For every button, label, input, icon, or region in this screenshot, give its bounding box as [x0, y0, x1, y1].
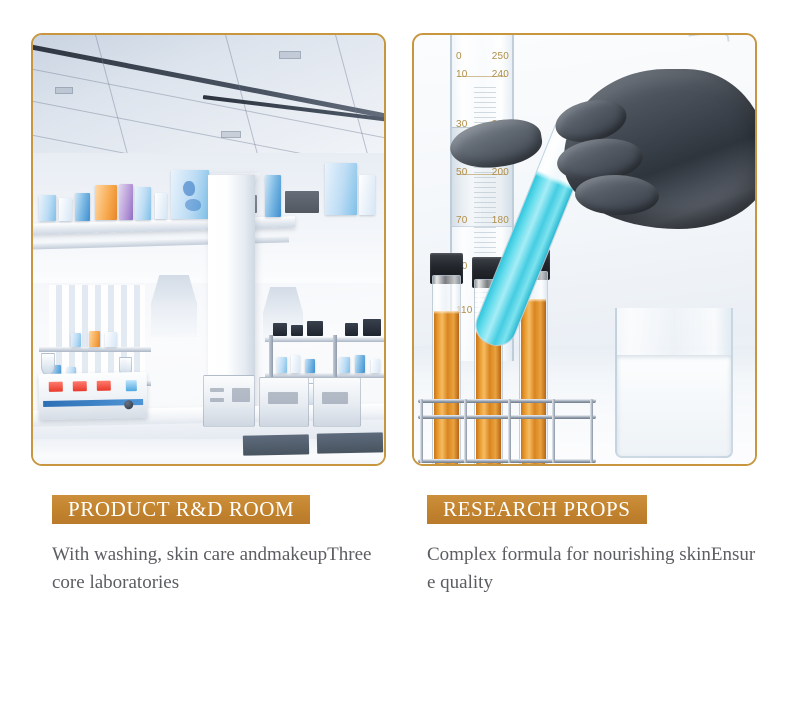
analyzer-unit-3 [313, 377, 361, 427]
cylinder-scale-right-0: 250 [492, 51, 509, 62]
glass-beaker [615, 308, 733, 458]
cylinder-scale-left-4: 70 [456, 215, 468, 226]
test-tube-fill-1 [434, 311, 459, 464]
shelf-product-1 [39, 195, 56, 221]
lab-room-scene [33, 35, 384, 464]
test-tube-fill-3 [521, 299, 546, 464]
mid-shelf-item-2 [291, 325, 303, 336]
mid-shelf-item-5 [363, 319, 381, 336]
ceiling-line-6 [333, 35, 384, 157]
shelf-product-6 [135, 187, 151, 220]
cylinder-row-1: 10 240 [452, 69, 512, 83]
shelf-product-8-graphic [183, 181, 195, 196]
banner-label: PRODUCT R&D ROOM [68, 499, 294, 520]
analyzer-display-2 [268, 392, 298, 404]
ceiling-vent-2 [279, 51, 301, 59]
flask-1 [41, 353, 55, 375]
cylinder-scale-right-4: 180 [492, 215, 509, 226]
cylinder-scale-right-3: 200 [492, 167, 509, 178]
description-product-rd-room: With washing, skin care andmakeupThree c… [52, 541, 382, 597]
rack-leg-1 [420, 399, 423, 463]
cylinder-row-0: 0 250 [452, 51, 512, 65]
cylinder-scale-right-1: 240 [492, 69, 509, 80]
photo-frame-research-props: 0 250 10 240 30 220 [412, 33, 757, 466]
banner-research-props: RESEARCH PROPS [427, 495, 647, 524]
cylinder-row-3: 50 200 [452, 167, 512, 181]
analyzer-slot-1 [210, 388, 224, 392]
left-shelf-bottle-1 [89, 331, 100, 347]
shelf-product-12 [359, 175, 375, 215]
instrument-red-button-1 [49, 382, 63, 392]
analyzer-slot-2 [210, 398, 224, 402]
rack-leg-2 [464, 399, 467, 463]
mid-shelf-bottle-5 [355, 355, 365, 373]
research-props-photo: 0 250 10 240 30 220 [414, 35, 755, 464]
shelf-item-10 [285, 191, 319, 213]
left-shelf-bottle-3 [105, 332, 117, 347]
mid-shelf-1 [265, 337, 384, 342]
product-feature-page: PRODUCT R&D ROOM With washing, skin care… [0, 0, 790, 715]
ceiling-line-4 [93, 35, 146, 157]
cylinder-scale-left-0: 0 [456, 51, 462, 62]
mid-shelf-item-1 [273, 323, 287, 336]
analyzer-display-3 [322, 392, 348, 404]
mid-shelf-bottle-6 [371, 359, 380, 373]
rack-leg-5 [590, 399, 593, 463]
beaker-spout [688, 35, 729, 46]
ceiling-vent-1 [55, 87, 73, 94]
instrument-red-button-2 [73, 381, 87, 391]
beaker-liquid [617, 355, 731, 456]
left-shelf-1 [39, 347, 151, 352]
research-props-scene: 0 250 10 240 30 220 [414, 35, 755, 464]
analyzer-unit-2 [259, 377, 309, 427]
test-tube-fill-2 [476, 331, 501, 464]
shelf-product-2 [59, 198, 72, 221]
rack-top-bar-2 [418, 415, 596, 419]
analyzer-unit-1 [203, 375, 255, 427]
instrument-blue-display [126, 380, 137, 391]
rack-top-bar [418, 399, 596, 403]
mid-shelf-bottle-1 [277, 357, 287, 373]
rack-leg-4 [552, 399, 555, 463]
analyzer-display-1 [232, 388, 250, 402]
ceiling-vent-3 [221, 131, 241, 138]
description-research-props: Complex formula for nourishing skinEnsur… [427, 541, 757, 597]
shelf-product-5 [119, 184, 133, 220]
shelf-product-9 [265, 175, 281, 217]
test-tube-1 [432, 275, 461, 464]
shelf-product-11 [325, 163, 357, 215]
instrument-knob [124, 400, 133, 409]
lab-instrument-panel [39, 372, 148, 420]
mid-shelf-bottle-3 [305, 359, 315, 373]
cylinder-row-4: 70 180 [452, 215, 512, 229]
cylinder-scale-left-3: 50 [456, 167, 468, 178]
left-shelf-bottle-2 [71, 333, 81, 347]
bench-drawer-2 [317, 432, 383, 453]
photo-frame-product-rd-room [31, 33, 386, 466]
shelf-product-3 [75, 193, 90, 221]
mid-shelf-item-4 [345, 323, 358, 336]
panel-research-props: 0 250 10 240 30 220 [412, 33, 757, 693]
panel-product-rd-room: PRODUCT R&D ROOM With washing, skin care… [31, 33, 386, 693]
banner-product-rd-room: PRODUCT R&D ROOM [52, 495, 310, 524]
ceiling-beam-1 [33, 41, 384, 128]
ceiling [33, 35, 384, 157]
fume-hood [151, 275, 197, 337]
mid-shelf-item-3 [307, 321, 323, 336]
cylinder-scale-left-1: 10 [456, 69, 468, 80]
instrument-red-button-3 [97, 381, 111, 391]
shelf-product-4 [95, 185, 117, 220]
mid-shelf-bottle-2 [291, 355, 300, 373]
shelf-product-7 [155, 193, 167, 219]
rack-bottom-bar [418, 459, 596, 463]
bench-drawer-1 [243, 434, 309, 455]
shelf-product-8-graphic-2 [185, 199, 201, 211]
rack-leg-3 [508, 399, 511, 463]
banner-label: RESEARCH PROPS [443, 499, 631, 520]
product-rd-room-photo [33, 35, 384, 464]
mid-shelf-bottle-4 [339, 357, 350, 373]
